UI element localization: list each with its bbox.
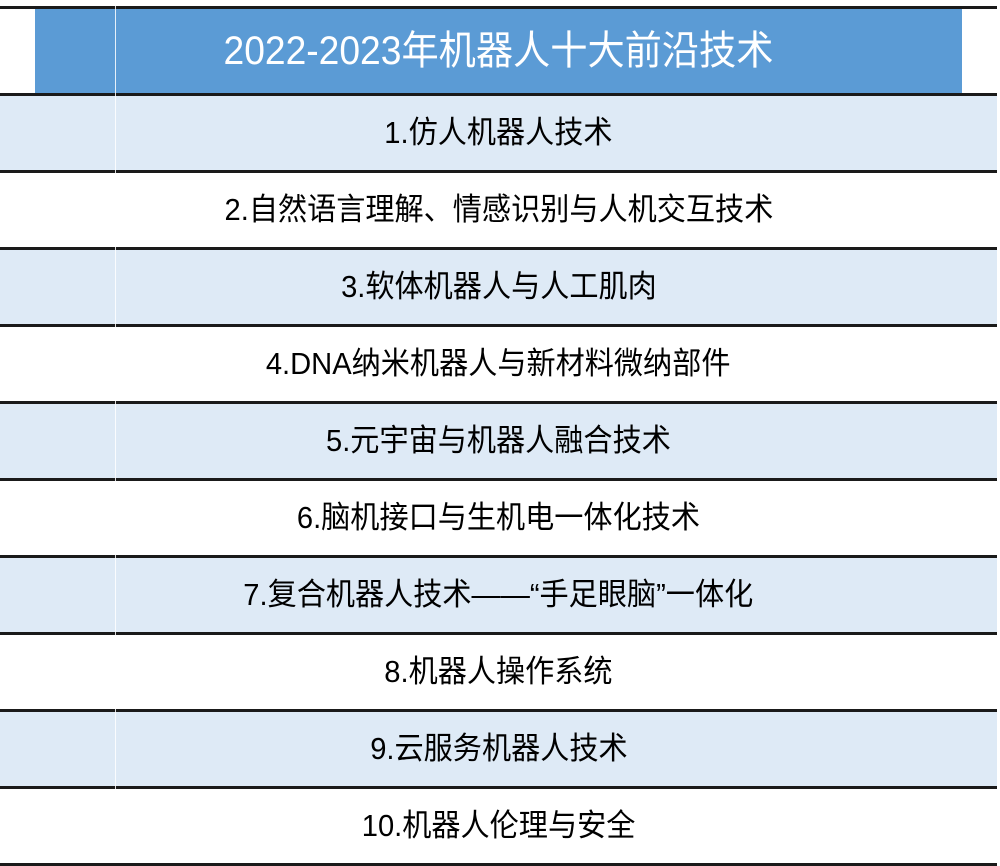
table-row[interactable]: 1.仿人机器人技术 <box>0 95 997 172</box>
item-label-2: 2.自然语言理解、情感识别与人机交互技术 <box>224 194 773 227</box>
table-row[interactable]: 9.云服务机器人技术 <box>0 711 997 788</box>
item-label-3: 3.软体机器人与人工肌肉 <box>341 271 657 304</box>
table-cell-item-2[interactable]: 2.自然语言理解、情感识别与人机交互技术 <box>0 172 997 249</box>
item-label-8: 8.机器人操作系统 <box>384 656 612 689</box>
table-cell-item-7[interactable]: 7.复合机器人技术——“手足眼脑”一体化 <box>0 557 997 634</box>
table-row[interactable]: 7.复合机器人技术——“手足眼脑”一体化 <box>0 557 997 634</box>
table-row[interactable]: 6.脑机接口与生机电一体化技术 <box>0 480 997 557</box>
item-label-9: 9.云服务机器人技术 <box>370 733 627 766</box>
table-row[interactable]: 3.软体机器人与人工肌肉 <box>0 249 997 326</box>
item-label-6: 6.脑机接口与生机电一体化技术 <box>297 502 700 535</box>
item-label-5: 5.元宇宙与机器人融合技术 <box>326 425 671 458</box>
item-label-10: 10.机器人伦理与安全 <box>362 810 636 843</box>
table-cell-item-1[interactable]: 1.仿人机器人技术 <box>0 95 997 172</box>
table-title-cell: 2022-2023年机器人十大前沿技术 <box>35 8 962 95</box>
item-label-7: 7.复合机器人技术——“手足眼脑”一体化 <box>244 579 754 612</box>
table-header-row: 2022-2023年机器人十大前沿技术 <box>0 8 997 95</box>
table-row[interactable]: 2.自然语言理解、情感识别与人机交互技术 <box>0 172 997 249</box>
table-cell-item-9[interactable]: 9.云服务机器人技术 <box>0 711 997 788</box>
table-row[interactable]: 8.机器人操作系统 <box>0 634 997 711</box>
table-cell-item-5[interactable]: 5.元宇宙与机器人融合技术 <box>0 403 997 480</box>
page-title: 2022-2023年机器人十大前沿技术 <box>224 30 774 72</box>
table-row[interactable]: 10.机器人伦理与安全 <box>0 788 997 865</box>
table: 2022-2023年机器人十大前沿技术 1.仿人机器人技术 2.自然语言理解、情… <box>0 6 997 866</box>
table-row[interactable]: 4.DNA纳米机器人与新材料微纳部件 <box>0 326 997 403</box>
item-label-1: 1.仿人机器人技术 <box>384 117 612 150</box>
table-cell-item-8[interactable]: 8.机器人操作系统 <box>0 634 997 711</box>
table-cell-item-10[interactable]: 10.机器人伦理与安全 <box>0 788 997 865</box>
item-label-4: 4.DNA纳米机器人与新材料微纳部件 <box>266 348 731 381</box>
table-cell-item-3[interactable]: 3.软体机器人与人工肌肉 <box>0 249 997 326</box>
top-technologies-table: 2022-2023年机器人十大前沿技术 1.仿人机器人技术 2.自然语言理解、情… <box>0 6 997 866</box>
table-cell-item-4[interactable]: 4.DNA纳米机器人与新材料微纳部件 <box>0 326 997 403</box>
table-row[interactable]: 5.元宇宙与机器人融合技术 <box>0 403 997 480</box>
table-cell-item-6[interactable]: 6.脑机接口与生机电一体化技术 <box>0 480 997 557</box>
page-root: 2022-2023年机器人十大前沿技术 1.仿人机器人技术 2.自然语言理解、情… <box>0 0 1000 860</box>
